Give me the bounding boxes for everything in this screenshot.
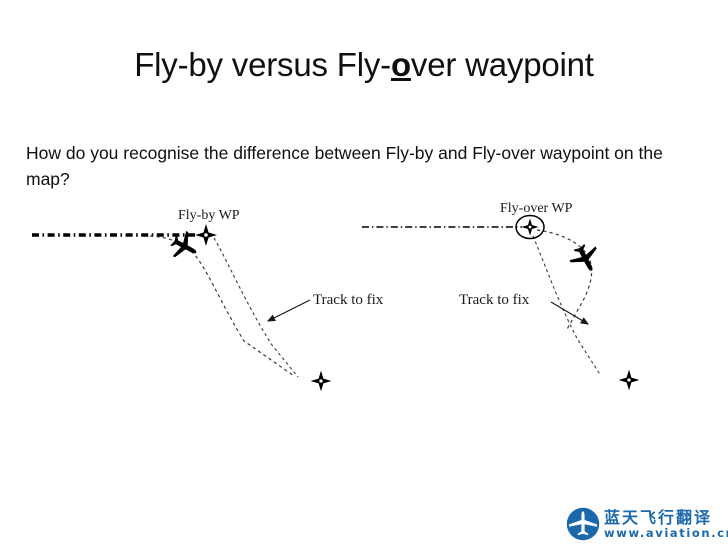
fly-over-track-label: Track to fix: [459, 292, 530, 308]
logo-text-block: 蓝天飞行翻译 www.aviation.cn: [604, 509, 728, 540]
fly-by-wp-label: Fly-by WP: [178, 208, 240, 223]
fly-over-track-to-fix-leg: [533, 236, 601, 376]
fly-over-waypoint-symbol: [516, 216, 544, 239]
page-title: Fly-by versus Fly-over waypoint: [0, 44, 728, 86]
fly-over-group: Fly-over WP Track to fix: [362, 201, 639, 390]
waypoint-diagram: Fly-by WP Track to fix: [0, 190, 728, 405]
logo-chinese-name: 蓝天飞行翻译: [604, 509, 728, 526]
fly-by-track-label: Track to fix: [313, 292, 384, 308]
aviation-logo: 蓝天飞行翻译 www.aviation.cn: [566, 503, 728, 545]
body-question-text: How do you recognise the difference betw…: [26, 140, 696, 192]
airplane-circle-icon: [566, 507, 600, 541]
fly-by-track-to-fix-leg: [214, 238, 298, 377]
page-title-part-1: Fly-by versus Fly-: [134, 46, 391, 83]
fly-by-flown-path: [150, 236, 294, 376]
fly-by-aircraft-icon: [166, 228, 202, 265]
fly-over-wp-label: Fly-over WP: [500, 201, 573, 216]
fly-by-group: Fly-by WP Track to fix: [32, 208, 384, 391]
fly-over-track-leader-line: [551, 302, 588, 324]
fly-by-track-leader-line: [268, 300, 310, 321]
page-title-part-2: ver waypoint: [411, 46, 594, 83]
fly-by-waypoint-star: [195, 224, 217, 246]
fly-over-aircraft-icon: [566, 240, 605, 278]
page-title-emphasis: o: [391, 46, 411, 83]
fly-over-next-fix-star: [619, 370, 640, 391]
fly-by-next-fix-star: [311, 371, 332, 392]
logo-website-url: www.aviation.cn: [604, 526, 728, 540]
